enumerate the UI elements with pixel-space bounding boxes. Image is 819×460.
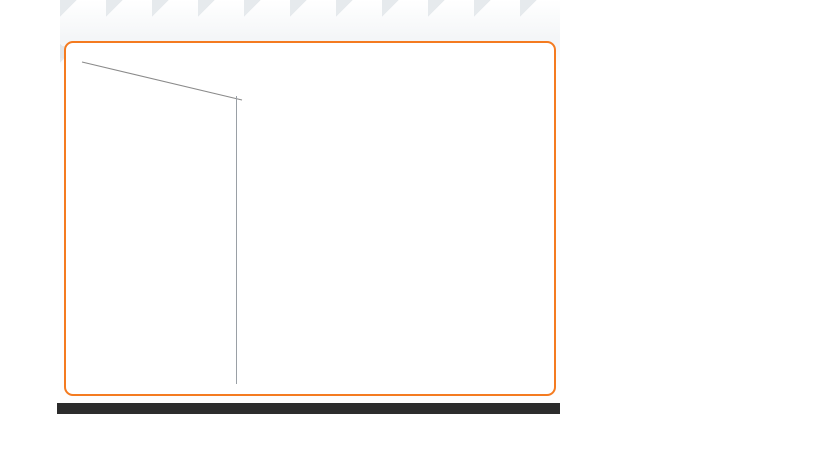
- corner-diagonal-divider: [80, 60, 244, 102]
- label-matrix-divider: [236, 96, 237, 384]
- slide-canvas: [60, 0, 560, 420]
- spec-matrix-panel: [64, 41, 556, 396]
- bottom-dark-bar: [57, 403, 560, 414]
